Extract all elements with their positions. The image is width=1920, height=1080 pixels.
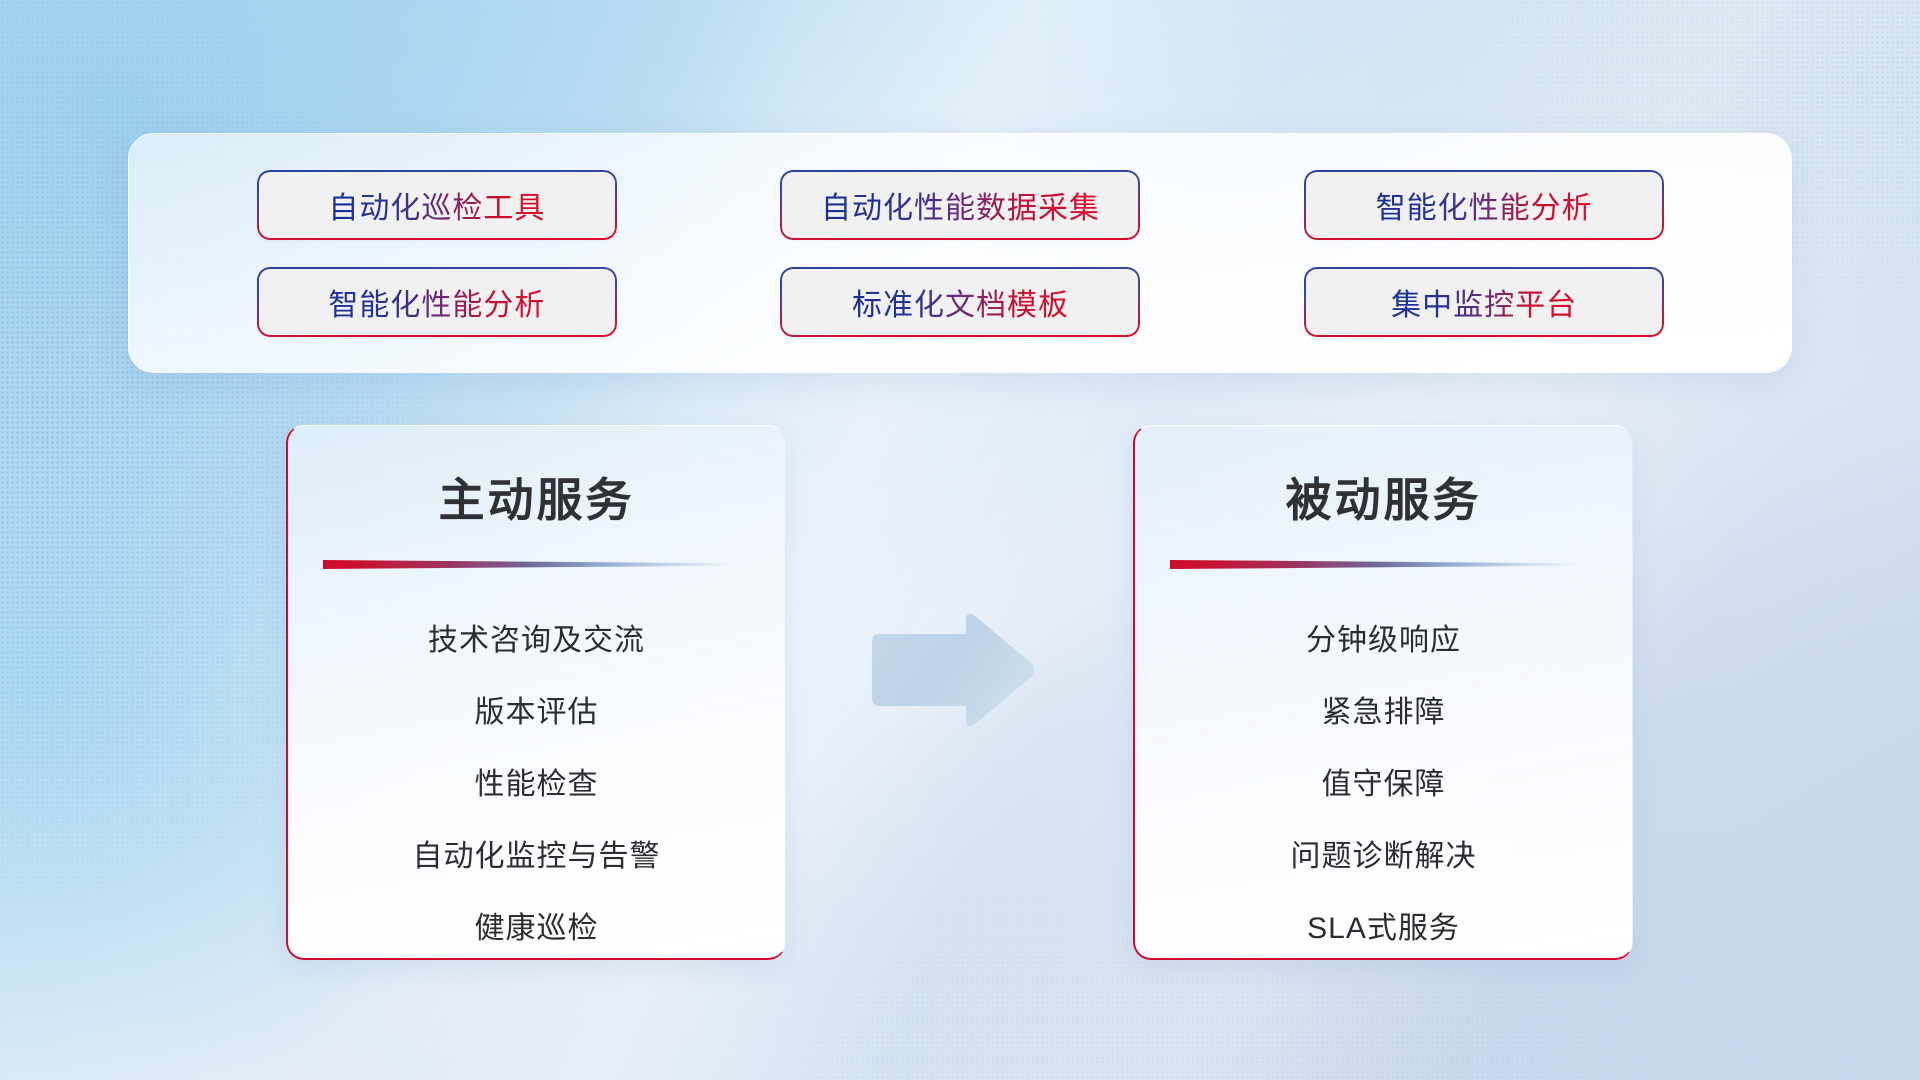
capability-pill-standardized-document-template[interactable]: 标准化文档模板 <box>782 269 1138 335</box>
list-item: 健康巡检 <box>475 893 599 960</box>
capability-panel: 自动化巡检工具 自动化性能数据采集 智能化性能分析 智能化性能分析 标准化文档模… <box>128 133 1792 373</box>
card-divider-proactive <box>323 560 751 569</box>
list-item: 版本评估 <box>475 677 599 749</box>
divider-wedge <box>1170 560 1598 569</box>
capability-pill-automated-performance-data-collection[interactable]: 自动化性能数据采集 <box>782 172 1138 238</box>
service-list-reactive: 分钟级响应 紧急排障 值守保障 问题诊断解决 SLA式服务 <box>1135 605 1632 960</box>
capability-pill-centralized-monitoring-platform[interactable]: 集中监控平台 <box>1306 269 1662 335</box>
capability-pill-label: 自动化性能数据采集 <box>821 183 1100 227</box>
capability-pill-label: 智能化性能分析 <box>1376 183 1593 227</box>
capability-pill-automated-inspection-tool[interactable]: 自动化巡检工具 <box>259 172 615 238</box>
capability-pill-intelligent-performance-analysis-bottom[interactable]: 智能化性能分析 <box>259 269 615 335</box>
service-card-reactive: 被动服务 分钟级响应 紧急排障 值守保障 问题诊断解决 SLA式服务 <box>1133 425 1633 960</box>
capability-pill-label: 集中监控平台 <box>1391 280 1577 324</box>
list-item: 问题诊断解决 <box>1291 821 1477 893</box>
list-item: 自动化监控与告警 <box>413 821 661 893</box>
service-list-proactive: 技术咨询及交流 版本评估 性能检查 自动化监控与告警 健康巡检 <box>288 605 785 960</box>
list-item: 技术咨询及交流 <box>428 605 645 677</box>
list-item: 性能检查 <box>475 749 599 821</box>
list-item: 紧急排障 <box>1322 677 1446 749</box>
list-item: 分钟级响应 <box>1306 605 1461 677</box>
list-item: 值守保障 <box>1322 749 1446 821</box>
capability-pill-intelligent-performance-analysis-top[interactable]: 智能化性能分析 <box>1306 172 1662 238</box>
card-divider-reactive <box>1170 560 1598 569</box>
divider-wedge <box>323 560 751 569</box>
capability-pill-label: 自动化巡检工具 <box>328 183 545 227</box>
service-card-proactive: 主动服务 技术咨询及交流 版本评估 性能检查 自动化监控与告警 健康巡检 <box>286 425 786 960</box>
list-item: SLA式服务 <box>1307 893 1460 960</box>
capability-pill-label: 标准化文档模板 <box>852 280 1069 324</box>
card-title-proactive: 主动服务 <box>288 464 785 530</box>
arrow-right-icon <box>868 608 1038 733</box>
capability-pill-label: 智能化性能分析 <box>328 280 545 324</box>
card-title-reactive: 被动服务 <box>1135 464 1632 530</box>
